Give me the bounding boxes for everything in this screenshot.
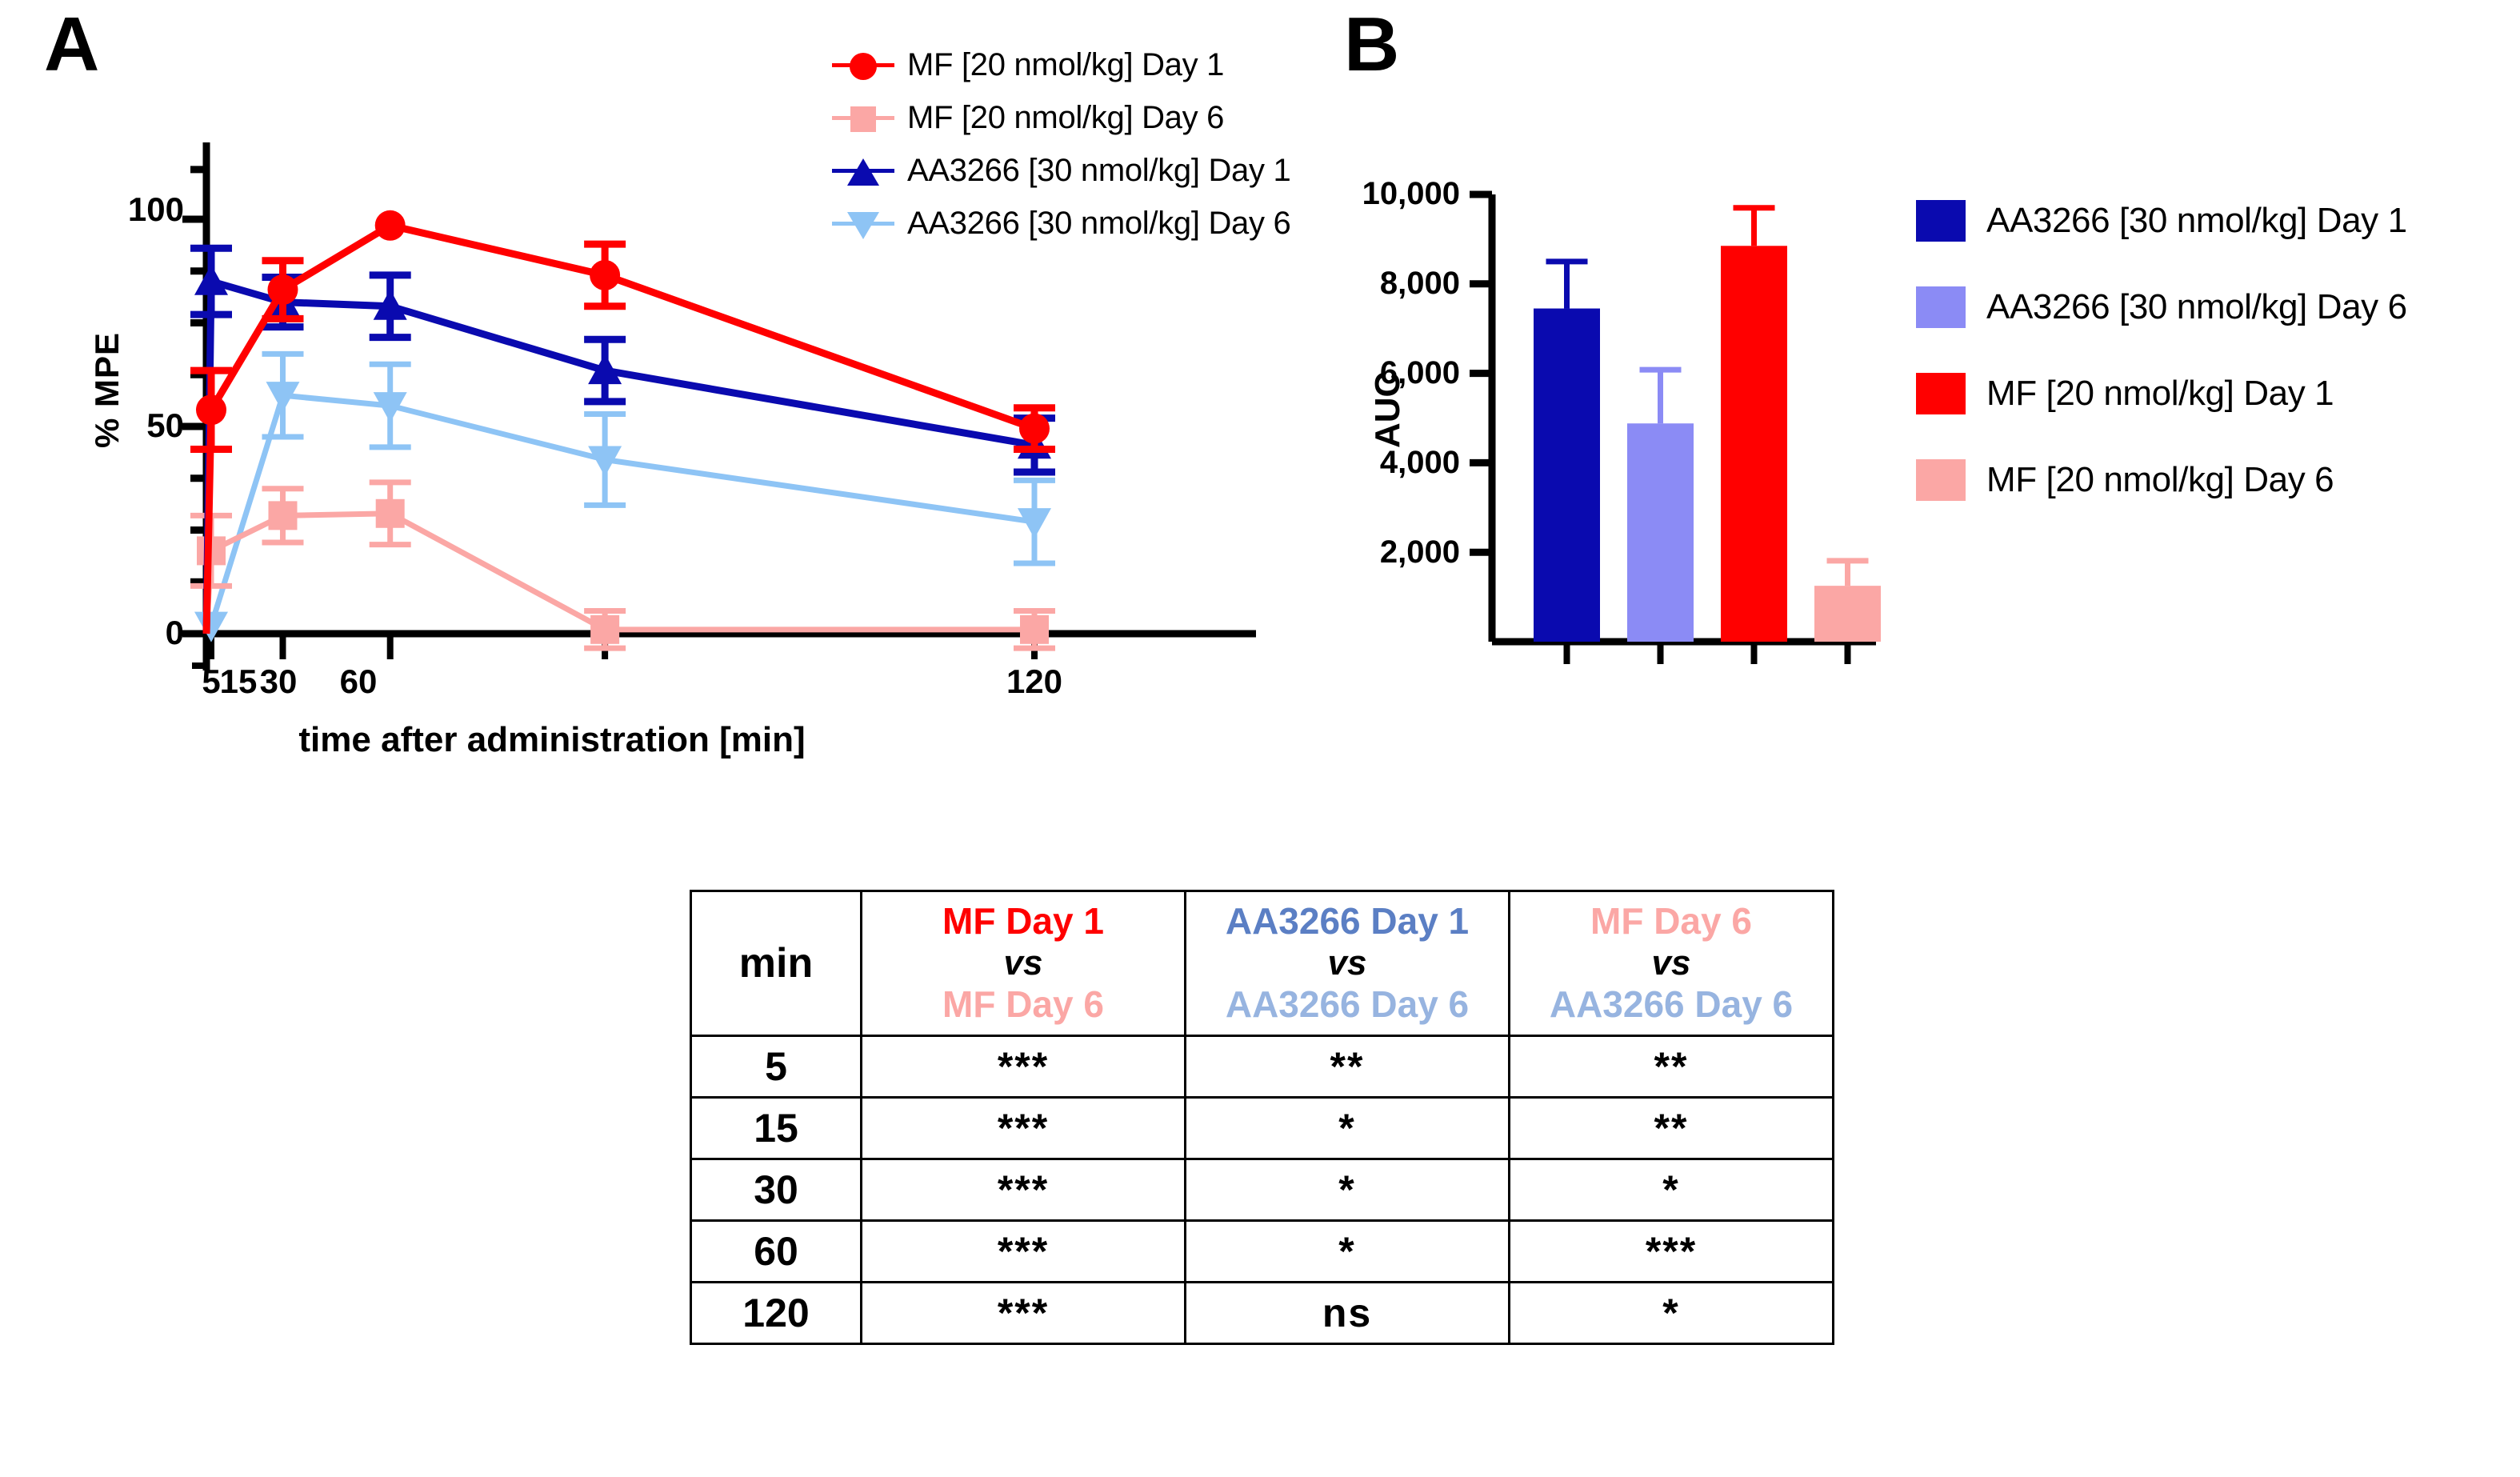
significance-table: min MF Day 1 vs MF Day 6 AA3266 Day 1 vs… xyxy=(690,890,1834,1345)
table-cell-3-0: *** xyxy=(862,1220,1186,1282)
legend-b-swatch-3 xyxy=(1916,459,1966,501)
panel-b-ytick-6000: 6,000 xyxy=(1308,355,1460,391)
table-header-1-bottom: AA3266 Day 6 xyxy=(1191,983,1503,1026)
legend-marker-square-icon xyxy=(832,102,894,134)
table-header-min: min xyxy=(691,891,862,1036)
legend-b-label-2: MF [20 nmol/kg] Day 1 xyxy=(1986,374,2334,414)
panel-a-ytick-50: 50 xyxy=(96,406,184,445)
panel-a-x-axis-title: time after administration [min] xyxy=(216,720,888,760)
table-header-1-vs: vs xyxy=(1191,943,1503,983)
table-cell-min-4: 120 xyxy=(691,1282,862,1343)
table-cell-4-1: ns xyxy=(1186,1282,1510,1343)
legend-a-label-1: MF [20 nmol/kg] Day 6 xyxy=(907,100,1224,136)
legend-b-label-3: MF [20 nmol/kg] Day 6 xyxy=(1986,460,2334,500)
legend-b-swatch-2 xyxy=(1916,373,1966,414)
legend-b-item-2[interactable]: MF [20 nmol/kg] Day 1 xyxy=(1916,365,2407,422)
legend-b-swatch-0 xyxy=(1916,200,1966,242)
legend-a-item-0[interactable]: MF [20 nmol/kg] Day 1 xyxy=(832,44,1290,86)
panel-b-ytick-10000: 10,000 xyxy=(1308,176,1460,212)
legend-b-item-0[interactable]: AA3266 [30 nmol/kg] Day 1 xyxy=(1916,192,2407,250)
table-header-row: min MF Day 1 vs MF Day 6 AA3266 Day 1 vs… xyxy=(691,891,1834,1036)
table-cell-0-1: ** xyxy=(1186,1035,1510,1097)
legend-a-label-2: AA3266 [30 nmol/kg] Day 1 xyxy=(907,153,1290,189)
table-cell-min-3: 60 xyxy=(691,1220,862,1282)
table-cell-4-2: * xyxy=(1510,1282,1834,1343)
table-cell-1-2: ** xyxy=(1510,1097,1834,1159)
panel-a-xtick-60: 60 xyxy=(310,662,406,701)
table-cell-2-0: *** xyxy=(862,1159,1186,1220)
table-header-comparison-0: MF Day 1 vs MF Day 6 xyxy=(862,891,1186,1036)
table-row: 60 *** * *** xyxy=(691,1220,1834,1282)
panel-b-ytick-2000: 2,000 xyxy=(1308,534,1460,570)
table-cell-0-2: ** xyxy=(1510,1035,1834,1097)
table-cell-3-1: * xyxy=(1186,1220,1510,1282)
legend-a-label-3: AA3266 [30 nmol/kg] Day 6 xyxy=(907,206,1290,242)
panel-b-ytick-8000: 8,000 xyxy=(1308,266,1460,302)
legend-b-label-1: AA3266 [30 nmol/kg] Day 6 xyxy=(1986,287,2407,327)
table-cell-4-0: *** xyxy=(862,1282,1186,1343)
table-header-2-vs: vs xyxy=(1515,943,1827,983)
table-row: 15 *** * ** xyxy=(691,1097,1834,1159)
legend-marker-triangle-down-icon xyxy=(832,207,894,239)
panel-a: A % MPE 100 50 0 5 15 30 60 120 time aft… xyxy=(0,0,1296,800)
table-cell-1-1: * xyxy=(1186,1097,1510,1159)
panel-a-legend: MF [20 nmol/kg] Day 1 MF [20 nmol/kg] Da… xyxy=(832,44,1290,255)
legend-a-label-0: MF [20 nmol/kg] Day 1 xyxy=(907,47,1224,83)
legend-marker-triangle-up-icon xyxy=(832,154,894,186)
legend-a-item-2[interactable]: AA3266 [30 nmol/kg] Day 1 xyxy=(832,150,1290,191)
legend-a-item-3[interactable]: AA3266 [30 nmol/kg] Day 6 xyxy=(832,202,1290,244)
panel-b-ytick-4000: 4,000 xyxy=(1308,445,1460,481)
legend-b-item-1[interactable]: AA3266 [30 nmol/kg] Day 6 xyxy=(1916,278,2407,336)
table-header-0-top: MF Day 1 xyxy=(867,900,1179,943)
table-header-comparison-2: MF Day 6 vs AA3266 Day 6 xyxy=(1510,891,1834,1036)
table-cell-3-2: *** xyxy=(1510,1220,1834,1282)
table-row: 30 *** * * xyxy=(691,1159,1834,1220)
table-row: 5 *** ** ** xyxy=(691,1035,1834,1097)
panel-a-ytick-100: 100 xyxy=(96,190,184,229)
table-header-2-top: MF Day 6 xyxy=(1515,900,1827,943)
table-cell-min-1: 15 xyxy=(691,1097,862,1159)
table-cell-0-0: *** xyxy=(862,1035,1186,1097)
legend-b-item-3[interactable]: MF [20 nmol/kg] Day 6 xyxy=(1916,451,2407,509)
table-row: 120 *** ns * xyxy=(691,1282,1834,1343)
table-header-comparison-1: AA3266 Day 1 vs AA3266 Day 6 xyxy=(1186,891,1510,1036)
table-cell-1-0: *** xyxy=(862,1097,1186,1159)
panel-b-legend: AA3266 [30 nmol/kg] Day 1 AA3266 [30 nmo… xyxy=(1916,192,2407,538)
panel-a-ytick-0: 0 xyxy=(96,614,184,652)
table-header-2-bottom: AA3266 Day 6 xyxy=(1515,983,1827,1026)
legend-a-item-1[interactable]: MF [20 nmol/kg] Day 6 xyxy=(832,97,1290,138)
legend-b-label-0: AA3266 [30 nmol/kg] Day 1 xyxy=(1986,201,2407,241)
panel-a-xtick-120: 120 xyxy=(986,662,1082,701)
table-cell-min-0: 5 xyxy=(691,1035,862,1097)
legend-b-swatch-1 xyxy=(1916,286,1966,328)
table-cell-2-2: * xyxy=(1510,1159,1834,1220)
table-cell-min-2: 30 xyxy=(691,1159,862,1220)
table-header-0-vs: vs xyxy=(867,943,1179,983)
legend-marker-circle-icon xyxy=(832,49,894,81)
table-header-0-bottom: MF Day 6 xyxy=(867,983,1179,1026)
table-header-1-top: AA3266 Day 1 xyxy=(1191,900,1503,943)
table-cell-2-1: * xyxy=(1186,1159,1510,1220)
